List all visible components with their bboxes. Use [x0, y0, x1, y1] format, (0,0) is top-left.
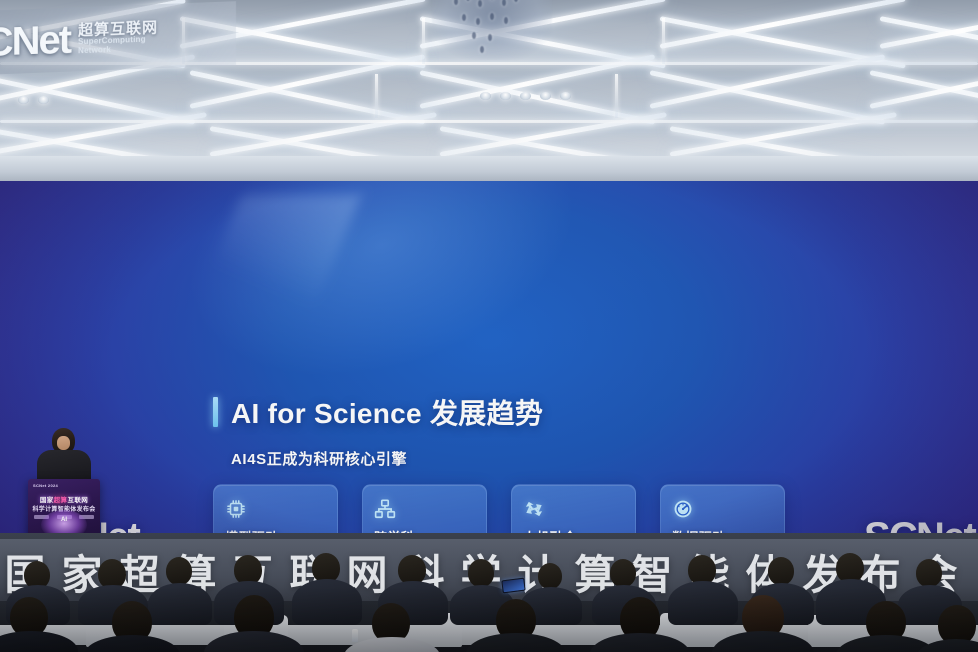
audience-area: 国家超算互联网科学计算智能体发布会 [0, 533, 978, 652]
ceiling-banner-logo: SCNet [0, 17, 70, 66]
ceiling-banner-english-line2: Network [78, 45, 111, 55]
ceiling-spotlights [480, 92, 571, 100]
podium-top-label: SCNet 2024 [33, 483, 58, 488]
led-presentation-screen: SCNet 超算互联网 SuperComputing Network SCNet… [0, 181, 978, 533]
ceiling-banner: SCNet 超算互联网 SuperComputing Network [0, 1, 236, 75]
ceiling: SCNet 超算互联网 SuperComputing Network [0, 0, 978, 182]
podium-headline: 国家超算互联网 [40, 494, 88, 504]
ceiling-banner-english-name: SuperComputing Network [78, 36, 158, 56]
conference-stage-photo: SCNet 超算互联网 SuperComputing Network SCNet… [0, 0, 978, 652]
podium-headline-part-b: 超算 [54, 497, 68, 504]
ceiling-spotlights [18, 96, 49, 104]
podium-headline-part-c: 互联网 [67, 497, 88, 504]
podium-and-speaker: SCNet 2024 国家超算互联网 科学计算智能体发布会 [16, 424, 112, 546]
chandelier [432, 0, 552, 60]
speaker-face [57, 436, 70, 450]
podium-headline-part-a: 国家 [40, 497, 54, 504]
